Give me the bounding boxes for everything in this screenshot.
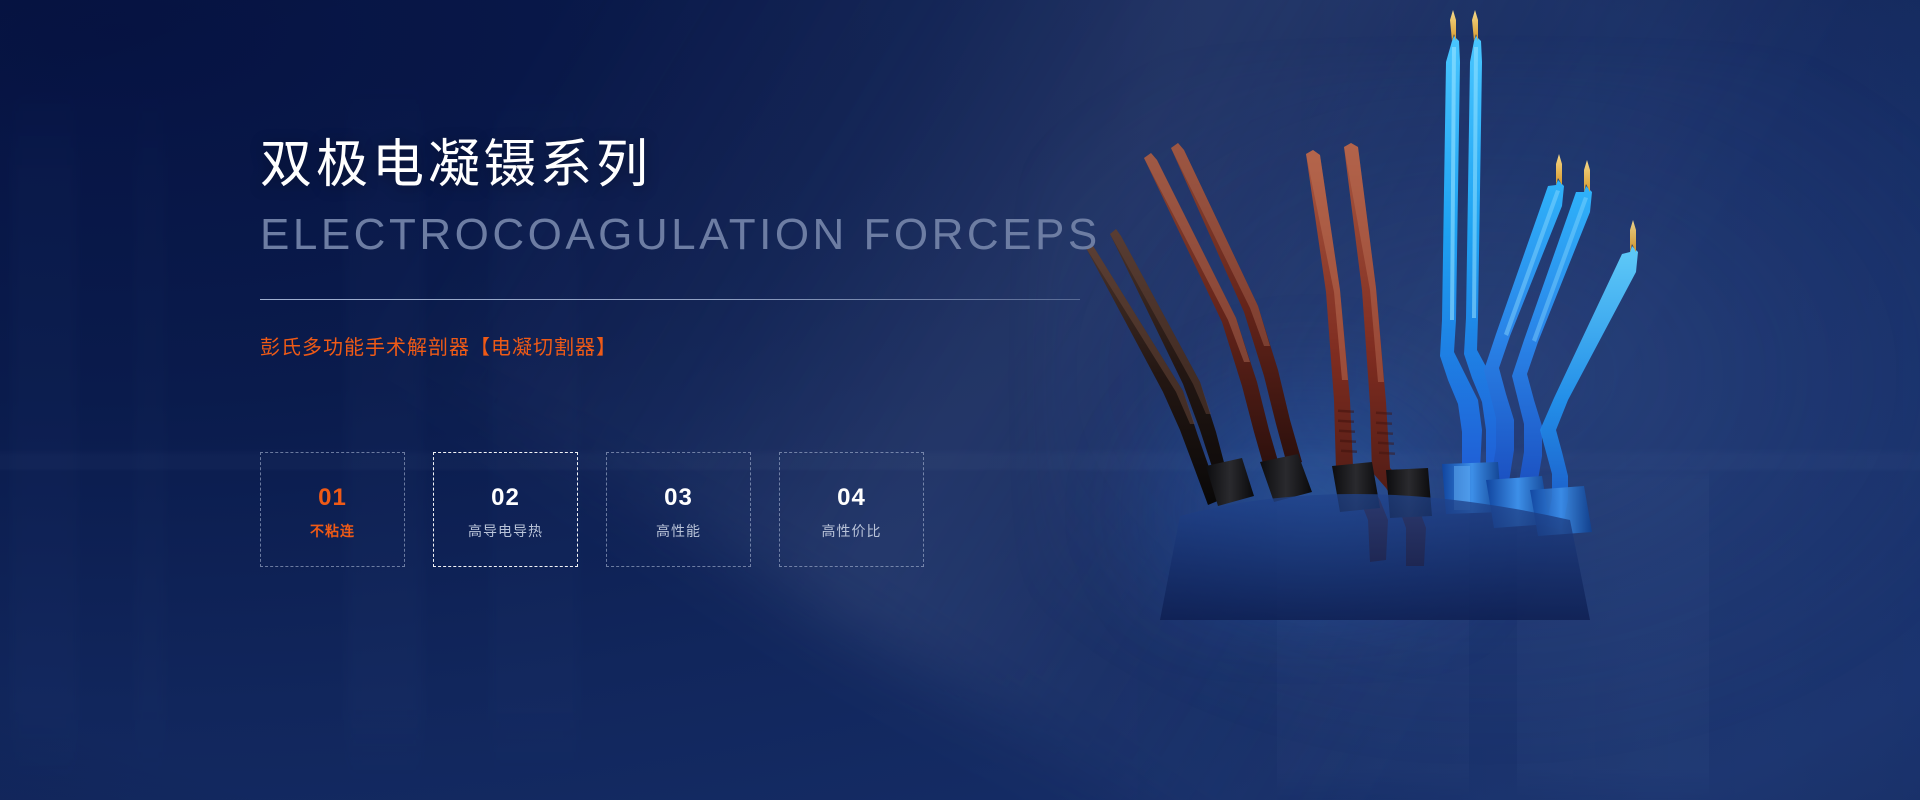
feature-card-01[interactable]: 01 不粘连 — [260, 452, 405, 567]
feature-card-03[interactable]: 03 高性能 — [606, 452, 751, 567]
feature-number: 02 — [491, 486, 520, 510]
feature-label: 高性能 — [656, 524, 701, 538]
feature-list: 01 不粘连 02 高导电导热 03 高性能 04 高性价比 — [260, 452, 924, 567]
feature-label: 高性价比 — [822, 524, 882, 538]
feature-number: 03 — [664, 486, 693, 510]
banner-content: 双极电凝镊系列 ELECTROCOAGULATION FORCEPS 彭氏多功能… — [260, 0, 1160, 800]
product-banner: 双极电凝镊系列 ELECTROCOAGULATION FORCEPS 彭氏多功能… — [0, 0, 1920, 800]
page-subtitle-english: ELECTROCOAGULATION FORCEPS — [260, 213, 1101, 257]
feature-label: 高导电导热 — [468, 524, 543, 538]
feature-card-04[interactable]: 04 高性价比 — [779, 452, 924, 567]
feature-label: 不粘连 — [310, 524, 355, 538]
page-title: 双极电凝镊系列 — [260, 139, 652, 191]
title-divider — [260, 299, 1080, 300]
feature-number: 04 — [837, 486, 866, 510]
feature-card-02[interactable]: 02 高导电导热 — [433, 452, 578, 567]
forceps-blue-2 — [1484, 154, 1592, 492]
forceps-group — [1086, 10, 1638, 620]
product-subtitle: 彭氏多功能手术解剖器【电凝切割器】 — [260, 338, 617, 358]
feature-number: 01 — [318, 486, 347, 510]
forceps-red-1 — [1144, 143, 1302, 474]
